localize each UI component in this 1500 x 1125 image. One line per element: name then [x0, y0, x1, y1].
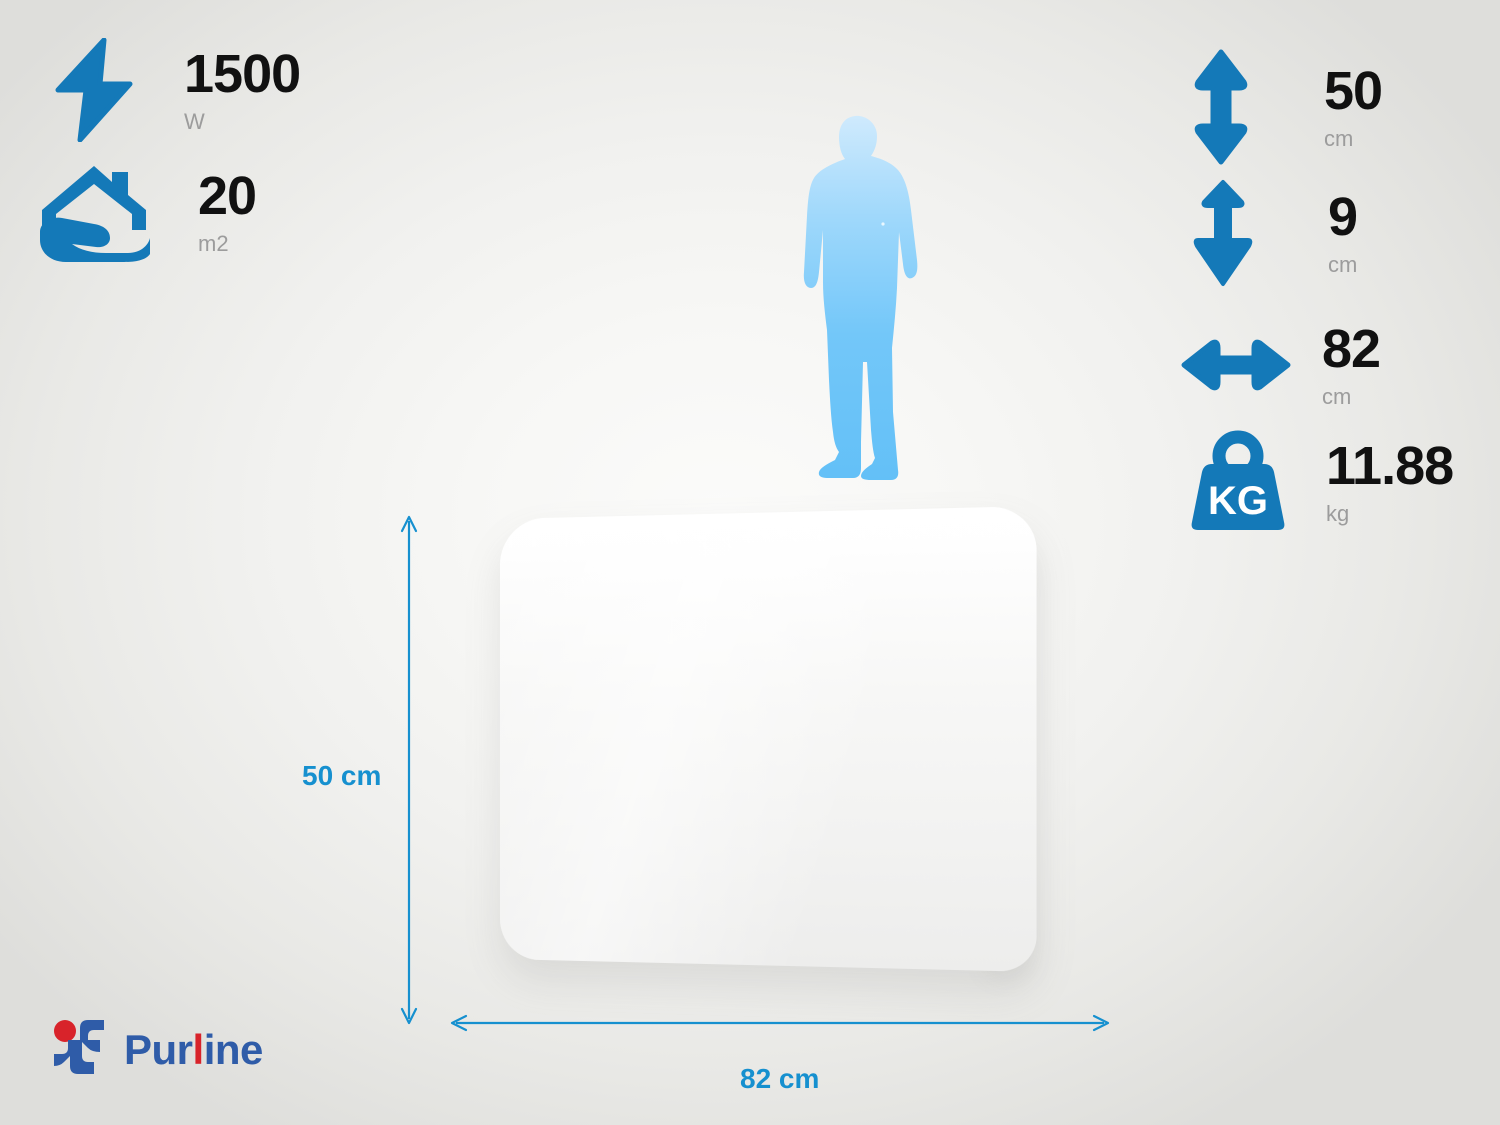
- infographic-canvas: 1500 W 20 m2: [0, 0, 1500, 1125]
- spec-width-value: 82: [1322, 322, 1380, 377]
- spec-depth-unit: cm: [1328, 254, 1357, 276]
- house-in-hand-icon: [36, 160, 154, 264]
- vertical-double-arrow-icon: [1192, 48, 1250, 166]
- spec-height-text: 50 cm: [1324, 64, 1382, 150]
- purline-logo: Purline: [48, 1016, 263, 1083]
- height-dimension-line: [398, 515, 420, 1025]
- kg-weight-icon: KG: [1186, 430, 1290, 534]
- kg-weight-icon-label: KG: [1208, 479, 1268, 523]
- spec-area-unit: m2: [198, 233, 256, 255]
- wall-panel-heater: [470, 505, 1080, 985]
- purline-wordmark-part2: l: [193, 1026, 204, 1073]
- height-dimension-label: 50 cm: [302, 760, 381, 792]
- panel-sheen: [500, 506, 1037, 972]
- spec-weight: KG 11.88 kg: [1186, 430, 1453, 534]
- spec-weight-text: 11.88 kg: [1326, 439, 1453, 525]
- spec-depth-text: 9 cm: [1328, 190, 1357, 276]
- panel-front-face: [500, 506, 1037, 972]
- logo-head-dot: [54, 1020, 76, 1042]
- spec-power-text: 1500 W: [184, 47, 300, 133]
- spec-height-unit: cm: [1324, 128, 1382, 150]
- purline-wordmark-part1: Pur: [124, 1026, 193, 1073]
- purline-wordmark: Purline: [124, 1029, 263, 1071]
- width-dimension-label: 82 cm: [740, 1063, 819, 1095]
- spec-weight-value: 11.88: [1326, 439, 1453, 494]
- spec-width-unit: cm: [1322, 386, 1380, 408]
- purline-wordmark-part3: ine: [204, 1026, 263, 1073]
- human-scale-silhouette: [793, 112, 925, 480]
- lightning-bolt-icon: [46, 38, 138, 142]
- horizontal-double-arrow-icon: [1180, 337, 1292, 393]
- spec-height-value: 50: [1324, 64, 1382, 119]
- spec-area: 20 m2: [36, 160, 256, 264]
- purline-logo-mark: [48, 1016, 110, 1083]
- spec-width: 82 cm: [1180, 322, 1380, 408]
- spec-depth-value: 9: [1328, 190, 1357, 245]
- spec-height: 50 cm: [1192, 48, 1382, 166]
- spec-area-text: 20 m2: [198, 169, 256, 255]
- spec-width-text: 82 cm: [1322, 322, 1380, 408]
- width-dimension-line: [450, 1012, 1110, 1034]
- spec-power-unit: W: [184, 111, 300, 133]
- panel-top-bevel: [500, 506, 1037, 573]
- depth-arrow-icon: [1192, 178, 1254, 288]
- spec-depth: 9 cm: [1192, 178, 1357, 288]
- spec-weight-unit: kg: [1326, 503, 1453, 525]
- spec-power: 1500 W: [46, 38, 300, 142]
- spec-area-value: 20: [198, 169, 256, 224]
- spec-power-value: 1500: [184, 47, 300, 102]
